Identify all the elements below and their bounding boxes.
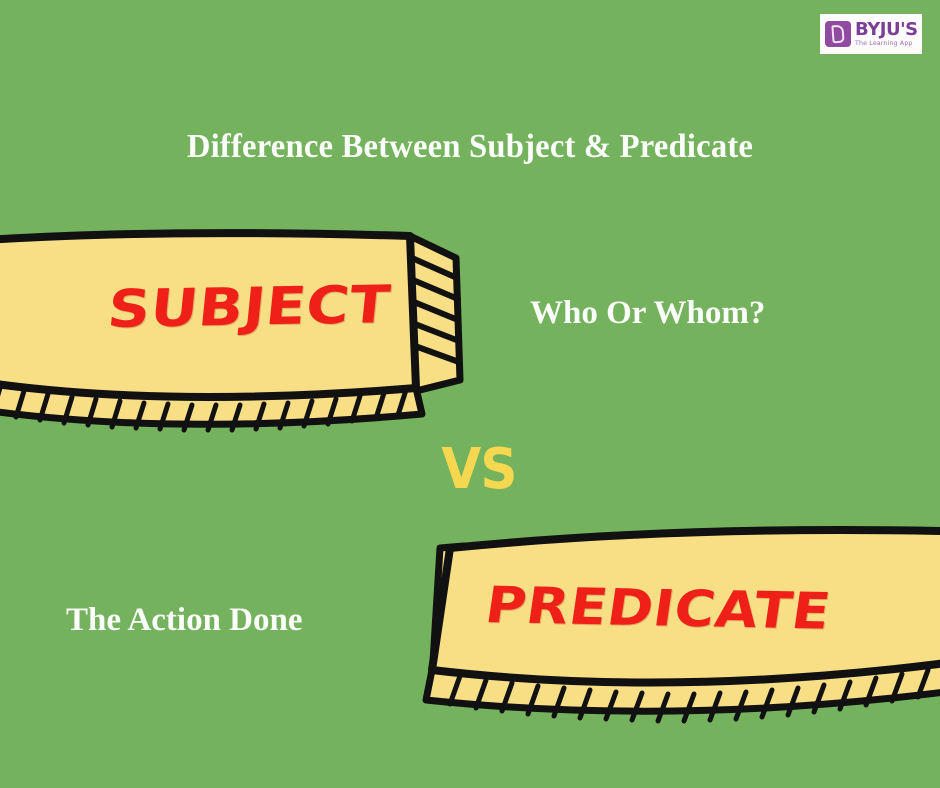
subject-description: Who Or Whom? [530, 295, 765, 332]
predicate-banner: PREDICATE [424, 528, 940, 728]
predicate-banner-label: PREDICATE [482, 576, 835, 641]
subject-banner-label: SUBJECT [105, 275, 393, 340]
byjus-logo: BYJU'S The Learning App [820, 14, 922, 54]
subject-banner: SUBJECT [0, 228, 486, 428]
byjus-logo-tagline: The Learning App [855, 41, 918, 47]
page-title: Difference Between Subject & Predicate [19, 128, 921, 166]
byjus-logo-wordmark: BYJU'S [855, 21, 918, 39]
byjus-logo-text: BYJU'S The Learning App [855, 21, 918, 47]
poster-canvas: BYJU'S The Learning App Difference Betwe… [0, 0, 940, 788]
byjus-book-icon [825, 21, 851, 47]
predicate-description: The Action Done [66, 602, 303, 639]
versus-label: VS [428, 437, 529, 502]
